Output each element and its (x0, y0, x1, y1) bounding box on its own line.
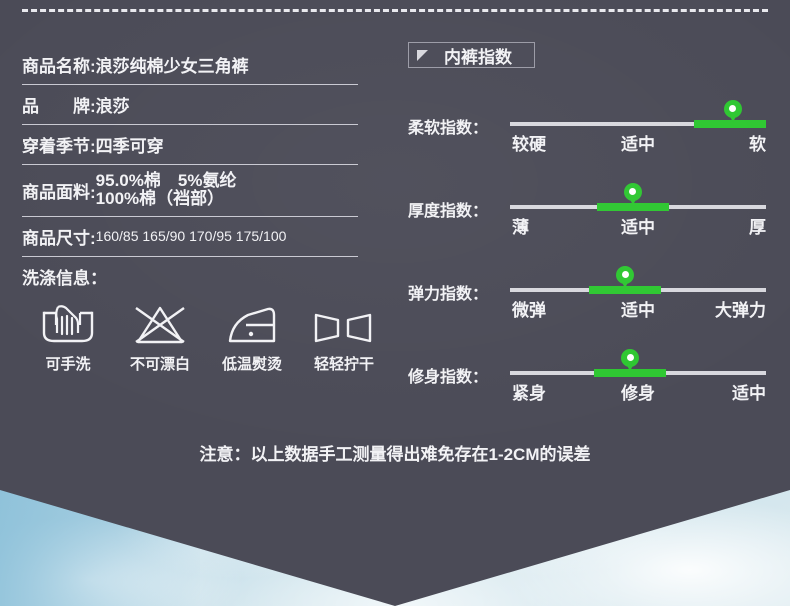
low-iron-icon (220, 303, 284, 347)
index-row-slimfit: 修身指数： 紧身 修身 适中 (408, 341, 778, 424)
slider-scale-labels: 薄 适中 厚 (510, 213, 766, 239)
spec-row-brand: 品 牌: 浪莎 (22, 92, 362, 117)
slider-marker-pin[interactable] (616, 266, 634, 290)
pin-dot (629, 188, 636, 195)
scale-label-mid: 适中 (621, 296, 655, 321)
spec-row-product-name: 商品名称: 浪莎纯棉少女三角裤 (22, 52, 362, 77)
spec-divider-3 (22, 164, 358, 165)
pin-dot (627, 354, 634, 361)
spec-label-brand: 品 牌: (22, 92, 96, 117)
wash-care-caption-gentle-wring: 轻轻拧干 (314, 353, 374, 374)
spec-label-season: 穿着季节: (22, 132, 96, 157)
wash-care-item-gentle-wring: 轻轻拧干 (298, 303, 390, 374)
index-row-thickness: 厚度指数： 薄 适中 厚 (408, 175, 778, 258)
spec-value-season: 四季可穿 (96, 132, 164, 157)
gentle-wring-icon (310, 303, 378, 347)
index-row-elasticity: 弹力指数： 微弹 适中 大弹力 (408, 258, 778, 341)
scale-label-low: 较硬 (512, 130, 546, 155)
pin-body (624, 183, 642, 201)
pin-body (616, 266, 634, 284)
pin-body (724, 100, 742, 118)
slider-marker-pin[interactable] (624, 183, 642, 207)
section-title-underwear-index: 内裤指数 (408, 42, 535, 68)
underwear-index-panel: 内裤指数 柔软指数： 较硬 适中 软 厚度指数： (408, 42, 778, 424)
scale-label-low: 薄 (512, 213, 529, 238)
scale-label-high: 软 (749, 130, 766, 155)
product-spec-list: 商品名称: 浪莎纯棉少女三角裤 品 牌: 浪莎 穿着季节: 四季可穿 商品面料:… (22, 52, 362, 374)
spec-divider-2 (22, 124, 358, 125)
pin-dot (729, 105, 736, 112)
wash-care-icon-row: 可手洗 不可漂白 (22, 303, 392, 374)
section-title-text: 内裤指数 (444, 43, 512, 68)
fabric-line-2: 100%棉（裆部） (96, 190, 237, 208)
wash-care-item-no-bleach: 不可漂白 (114, 303, 206, 374)
wash-info-title: 洗涤信息： (22, 264, 362, 289)
scale-label-mid: 适中 (621, 130, 655, 155)
spec-value-size: 160/85 165/90 170/95 175/100 (96, 228, 287, 244)
index-label-elasticity: 弹力指数： (408, 280, 488, 304)
spec-row-size: 商品尺寸: 160/85 165/90 170/95 175/100 (22, 224, 362, 249)
slider-marker-pin[interactable] (621, 349, 639, 373)
index-slider-elasticity[interactable]: 微弹 适中 大弹力 (510, 258, 766, 328)
scale-label-low: 紧身 (512, 379, 546, 404)
pin-body (621, 349, 639, 367)
index-slider-slimfit[interactable]: 紧身 修身 适中 (510, 341, 766, 411)
spec-value-fabric: 95.0%棉 5%氨纶 100%棉（裆部） (96, 172, 237, 209)
spec-label-size: 商品尺寸: (22, 224, 96, 249)
wash-care-caption-no-bleach: 不可漂白 (130, 353, 190, 374)
spec-divider-4 (22, 216, 358, 217)
spec-label-product-name: 商品名称: (22, 52, 96, 77)
spec-row-season: 穿着季节: 四季可穿 (22, 132, 362, 157)
scale-label-mid: 适中 (621, 213, 655, 238)
measurement-disclaimer-note: 注意：以上数据手工测量得出难免存在1-2CM的误差 (0, 440, 790, 465)
wash-care-caption-hand-wash: 可手洗 (45, 353, 90, 374)
wash-care-item-low-iron: 低温熨烫 (206, 303, 298, 374)
scale-label-mid: 修身 (621, 379, 655, 404)
dark-info-panel: 商品名称: 浪莎纯棉少女三角裤 品 牌: 浪莎 穿着季节: 四季可穿 商品面料:… (0, 0, 790, 606)
spec-divider-5 (22, 256, 358, 257)
slider-scale-labels: 微弹 适中 大弹力 (510, 296, 766, 322)
no-bleach-icon (128, 303, 192, 347)
slider-scale-labels: 较硬 适中 软 (510, 130, 766, 156)
scale-label-low: 微弹 (512, 296, 546, 321)
index-row-softness: 柔软指数： 较硬 适中 软 (408, 92, 778, 175)
hand-wash-icon (36, 303, 100, 347)
spec-value-product-name: 浪莎纯棉少女三角裤 (96, 52, 249, 77)
slider-scale-labels: 紧身 修身 适中 (510, 379, 766, 405)
scale-label-high: 大弹力 (715, 296, 766, 321)
wash-care-item-hand-wash: 可手洗 (22, 303, 114, 374)
pin-dot (622, 271, 629, 278)
spec-label-fabric: 商品面料: (22, 178, 96, 203)
index-slider-softness[interactable]: 较硬 适中 软 (510, 92, 766, 162)
index-label-thickness: 厚度指数： (408, 197, 488, 221)
index-slider-thickness[interactable]: 薄 适中 厚 (510, 175, 766, 245)
scale-label-high: 厚 (749, 213, 766, 238)
spec-divider-1 (22, 84, 358, 85)
corner-flag-icon (417, 50, 428, 61)
fabric-line-1: 95.0%棉 5%氨纶 (96, 172, 237, 190)
scale-label-high: 适中 (732, 379, 766, 404)
spec-value-brand: 浪莎 (96, 92, 130, 117)
spec-row-fabric: 商品面料: 95.0%棉 5%氨纶 100%棉（裆部） (22, 172, 362, 209)
slider-marker-pin[interactable] (724, 100, 742, 124)
top-dashed-divider (22, 9, 768, 12)
wash-care-caption-low-iron: 低温熨烫 (222, 353, 282, 374)
index-label-slimfit: 修身指数： (408, 363, 488, 387)
index-label-softness: 柔软指数： (408, 114, 488, 138)
